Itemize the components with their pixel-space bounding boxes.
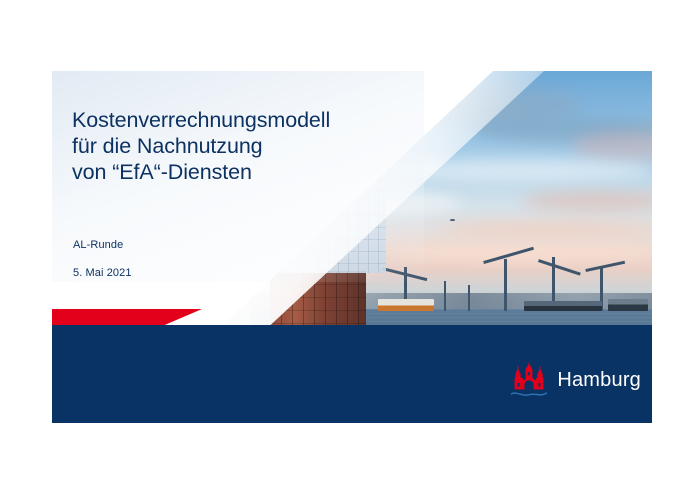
presentation-title-slide: Kostenverrechnungsmodell für die Nachnut… [52,71,652,423]
harbour-mast [444,281,446,311]
slide-event-label: AL-Runde [73,239,123,251]
hamburg-wordmark: Hamburg [557,370,641,392]
slide-title: Kostenverrechnungsmodell für die Nachnut… [72,107,462,185]
hamburg-logo: Hamburg [510,360,641,402]
bird [450,219,455,221]
slide-date-label: 5. Mai 2021 [73,267,132,279]
harbour-mast [468,285,470,311]
harbour-crane [504,259,507,311]
cargo-ship [524,301,602,311]
cargo-ship [608,299,648,311]
screenshot-canvas: Kostenverrechnungsmodell für die Nachnut… [0,0,700,495]
cargo-ship [378,299,434,311]
hamburg-castle-coat-of-arms-icon [510,362,548,400]
